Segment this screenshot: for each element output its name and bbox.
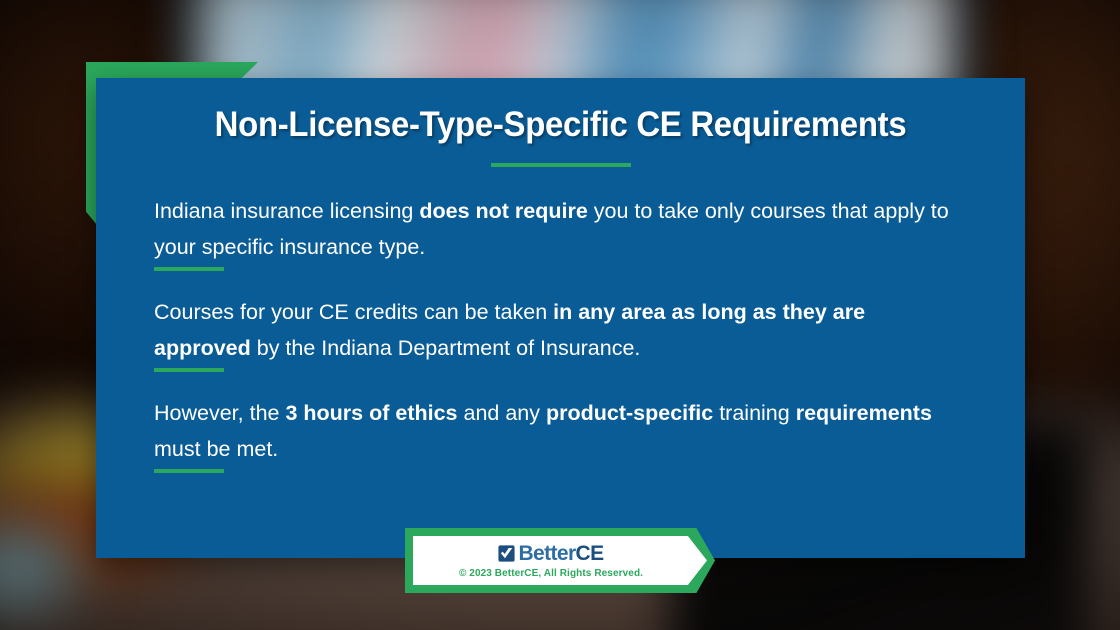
paragraph-1-accent-underline (154, 267, 224, 271)
paragraph-3-accent-underline (154, 469, 224, 473)
paragraph-3-text: However, the 3 hours of ethics and any p… (154, 401, 932, 461)
paragraph-2-text: Courses for your CE credits can be taken… (154, 300, 865, 360)
paragraph-1: Indiana insurance licensing does not req… (154, 193, 967, 265)
copyright-text: © 2023 BetterCE, All Rights Reserved. (459, 568, 643, 579)
paragraph-2: Courses for your CE credits can be taken… (154, 294, 967, 366)
card-title: Non-License-Type-Specific CE Requirement… (124, 78, 997, 145)
checkmark-square-icon (498, 545, 515, 562)
brand-wordmark-second: CE (576, 542, 604, 565)
footer-brand-badge-inner: BetterCE © 2023 BetterCE, All Rights Res… (413, 536, 707, 585)
paragraph-3: However, the 3 hours of ethics and any p… (154, 395, 967, 467)
info-card: Non-License-Type-Specific CE Requirement… (96, 78, 1025, 558)
brand-wordmark: BetterCE (518, 543, 603, 564)
footer-brand-badge: BetterCE © 2023 BetterCE, All Rights Res… (405, 528, 715, 593)
paragraph-2-accent-underline (154, 368, 224, 372)
brand-lockup: BetterCE (498, 543, 603, 564)
brand-wordmark-first: Better (518, 542, 575, 565)
green-accent-top-bar (86, 62, 258, 79)
paragraph-1-text: Indiana insurance licensing does not req… (154, 199, 949, 259)
card-body: Indiana insurance licensing does not req… (96, 167, 1025, 467)
